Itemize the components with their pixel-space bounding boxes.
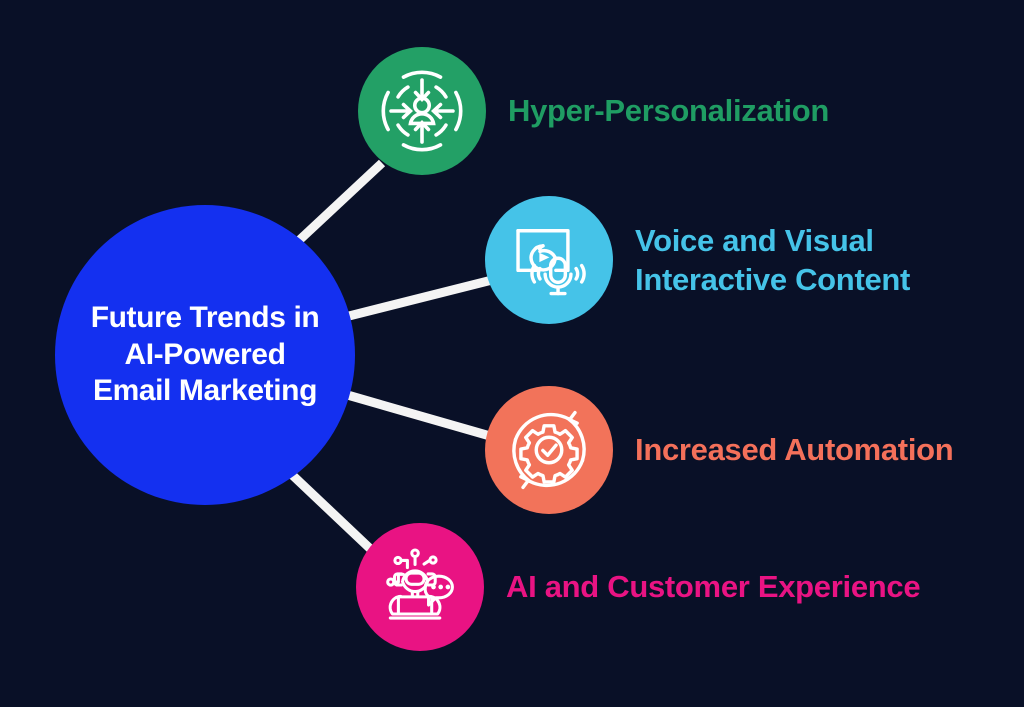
central-topic-node[interactable]: Future Trends in AI-Powered Email Market… [55, 205, 355, 505]
branch-icon-circle-0[interactable] [358, 47, 486, 175]
branch-icon-circle-1[interactable] [485, 196, 613, 324]
branch-increased-automation[interactable]: Increased Automation [485, 386, 953, 514]
chatbot-laptop-icon [375, 542, 465, 632]
infographic-canvas: Future Trends in AI-Powered Email Market… [0, 0, 1024, 707]
branch-ai-customer-experience[interactable]: AI and Customer Experience [356, 523, 920, 651]
target-person-icon [379, 68, 465, 154]
branch-label-3: AI and Customer Experience [506, 567, 920, 606]
video-microphone-icon [506, 217, 592, 303]
connector-line-2 [344, 394, 497, 438]
branch-icon-circle-3[interactable] [356, 523, 484, 651]
branch-label-0: Hyper-Personalization [508, 91, 829, 130]
connector-line-1 [345, 279, 496, 317]
branch-voice-visual-interactive-content[interactable]: Voice and Visual Interactive Content [485, 196, 910, 324]
branch-hyper-personalization[interactable]: Hyper-Personalization [358, 47, 829, 175]
gear-check-refresh-icon [505, 406, 593, 494]
branch-label-2: Increased Automation [635, 430, 953, 469]
central-topic-label: Future Trends in AI-Powered Email Market… [77, 300, 334, 411]
connector-line-0 [292, 163, 382, 247]
branch-label-1: Voice and Visual Interactive Content [635, 221, 910, 299]
branch-icon-circle-2[interactable] [485, 386, 613, 514]
